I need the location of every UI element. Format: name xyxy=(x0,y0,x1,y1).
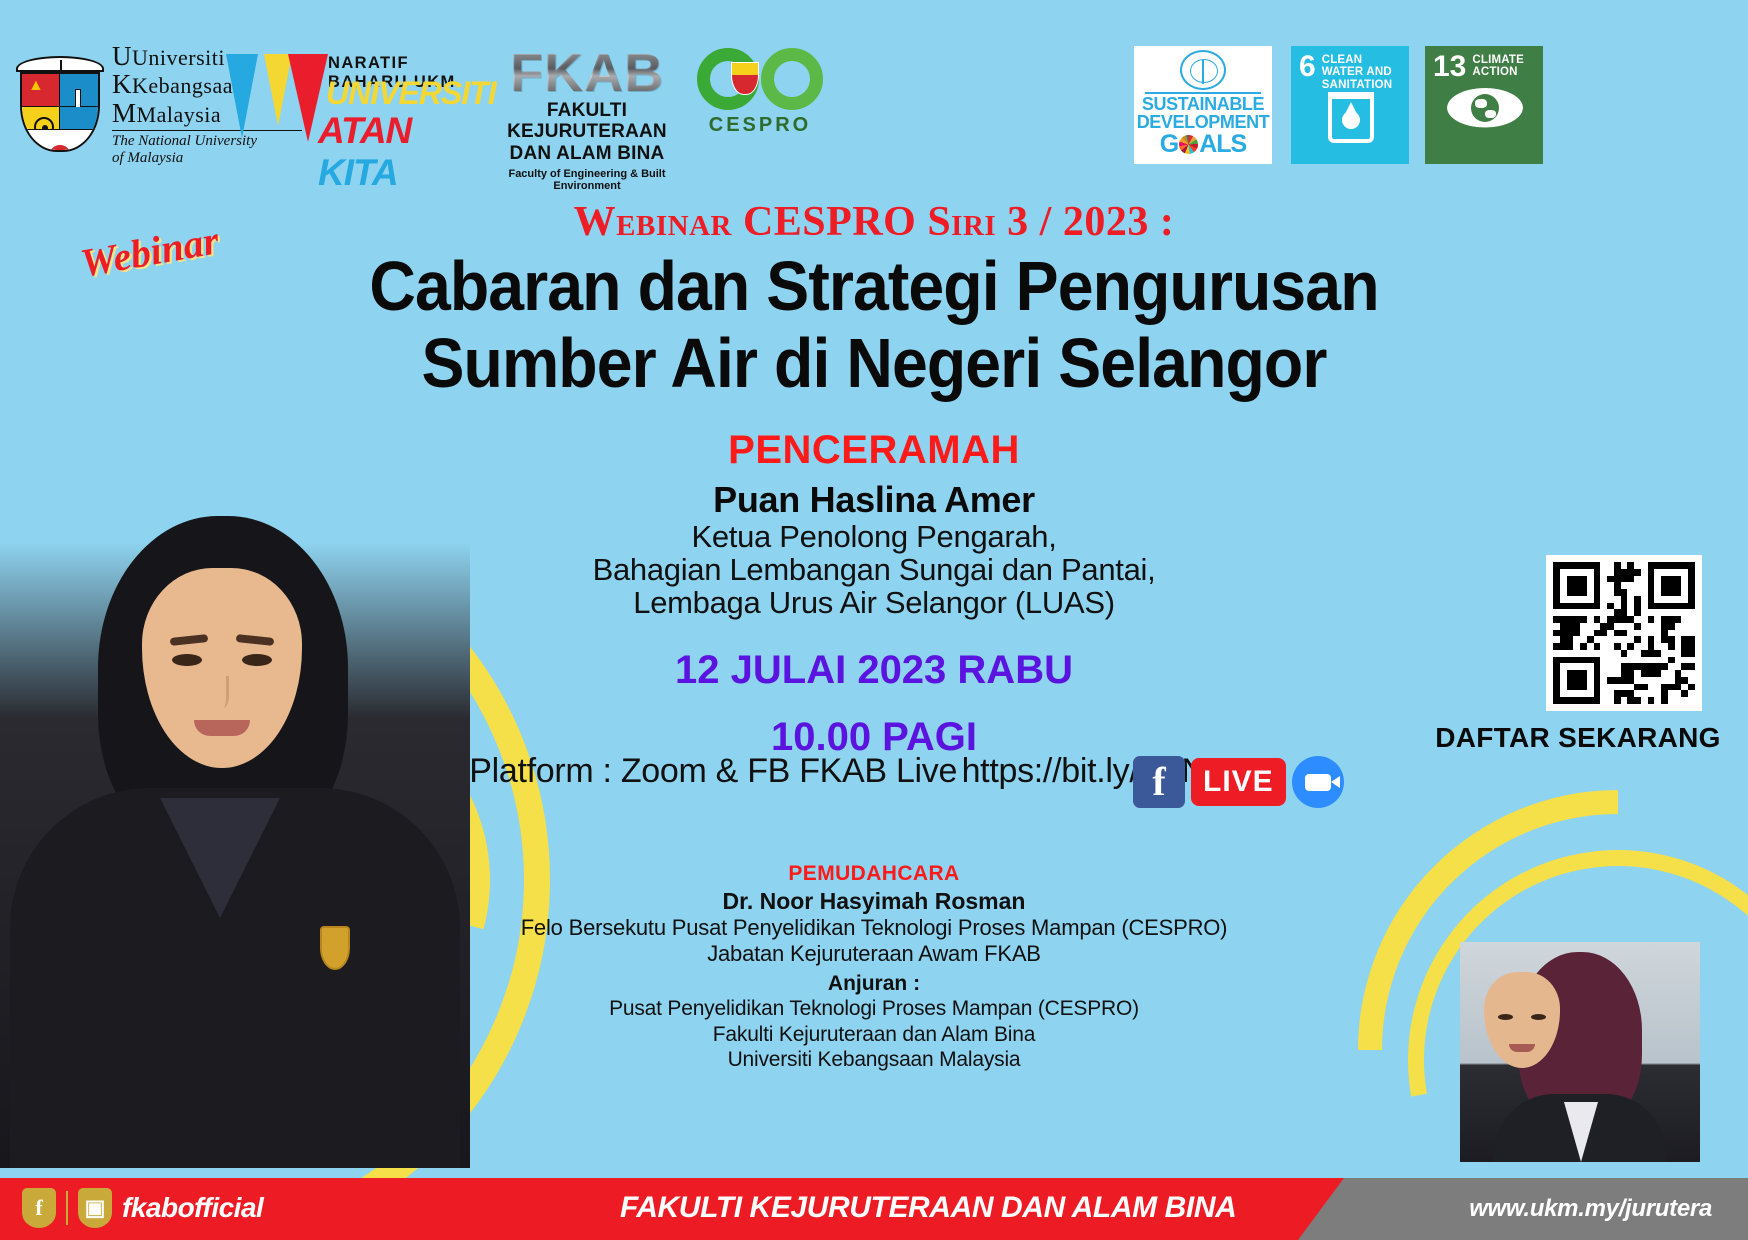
webinar-kicker: Webinar CESPRO Siri 3 / 2023 : xyxy=(0,198,1748,246)
sdg-goal-13-label: CLIMATE ACTION xyxy=(1472,54,1537,79)
cespro-logo: CESPRO xyxy=(690,44,830,137)
naratif-line1: UNIVERSITI xyxy=(326,75,496,112)
sdg-goal-6-label: CLEAN WATER AND SANITATION xyxy=(1322,54,1403,91)
sdg-line3a: G xyxy=(1160,132,1178,158)
logo-bar: ▲ UUniversiti KKebangsaan MMalaysia The … xyxy=(0,0,1748,190)
ukm-sub2: of Malaysia xyxy=(112,150,302,167)
webinar-poster: ▲ UUniversiti KKebangsaan MMalaysia The … xyxy=(0,0,1748,1240)
footer-social: f ▣ fkabofficial xyxy=(22,1188,263,1228)
naratif-line2a: ATAN xyxy=(318,110,411,151)
speaker-role-line1: Ketua Penolong Pengarah, xyxy=(0,521,1748,554)
webinar-title-line1: Cabaran dan Strategi Pengurusan xyxy=(70,250,1678,323)
naratif-line2b: KITA xyxy=(318,152,398,193)
facilitator-line2: Jabatan Kejuruteraan Awam FKAB xyxy=(0,941,1748,967)
organiser-line3: Universiti Kebangsaan Malaysia xyxy=(0,1047,1748,1073)
event-date: 12 JULAI 2023 RABU xyxy=(0,648,1748,693)
footer-bar: f ▣ fkabofficial FAKULTI KEJURUTERAAN DA… xyxy=(0,1178,1748,1240)
platform-icons: f LIVE xyxy=(1133,756,1344,808)
ukm-line3: Malaysia xyxy=(137,102,222,127)
facilitator-heading: PEMUDAHCARA xyxy=(0,862,1748,886)
zoom-icon[interactable] xyxy=(1292,756,1344,808)
ukm-line1: Universiti xyxy=(132,45,225,70)
water-glass-icon xyxy=(1299,99,1403,143)
un-emblem-icon xyxy=(1180,50,1226,90)
sdg-line3b: ALS xyxy=(1199,132,1246,158)
title-block: Webinar CESPRO Siri 3 / 2023 : Cabaran d… xyxy=(0,198,1748,400)
sdg-logo: SUSTAINABLE DEVELOPMENT G ALS xyxy=(1134,46,1272,164)
sdg-goal-6-number: 6 xyxy=(1299,54,1316,80)
sdg-goal-13-number: 13 xyxy=(1433,54,1466,80)
live-badge: LIVE xyxy=(1191,758,1286,806)
ukm-crest-icon: ▲ xyxy=(18,56,102,152)
naratif-baharu-logo: NARATIF BAHARU UKM UNIVERSITI ATAN KITA xyxy=(222,48,472,140)
speaker-role-line3: Lembaga Urus Air Selangor (LUAS) xyxy=(0,587,1748,620)
sdg-goal-6-tile: 6 CLEAN WATER AND SANITATION xyxy=(1291,46,1409,164)
speaker-role-line2: Bahagian Lembangan Sungai dan Pantai, xyxy=(0,554,1748,587)
sdg-colour-wheel-icon xyxy=(1179,135,1198,154)
instagram-icon[interactable]: ▣ xyxy=(78,1188,112,1228)
facilitator-block: PEMUDAHCARA Dr. Noor Hasyimah Rosman Fel… xyxy=(0,862,1748,967)
speaker-block: PENCERAMAH Puan Haslina Amer Ketua Penol… xyxy=(0,428,1748,620)
climate-eye-icon xyxy=(1433,88,1537,128)
footer-url[interactable]: www.ukm.my/jurutera xyxy=(1469,1195,1712,1223)
facebook-icon[interactable]: f xyxy=(22,1188,56,1228)
sdg-goal-13-tile: 13 CLIMATE ACTION xyxy=(1425,46,1543,164)
fkab-logo: FKAB FAKULTI KEJURUTERAAN DAN ALAM BINA … xyxy=(487,48,687,192)
speaker-name: Puan Haslina Amer xyxy=(0,479,1748,521)
social-handle: fkabofficial xyxy=(122,1192,263,1224)
organiser-line2: Fakulti Kejuruteraan dan Alam Bina xyxy=(0,1022,1748,1048)
facilitator-name: Dr. Noor Hasyimah Rosman xyxy=(0,888,1748,915)
facebook-icon[interactable]: f xyxy=(1133,756,1185,808)
organiser-block: Anjuran : Pusat Penyelidikan Teknologi P… xyxy=(0,972,1748,1073)
footer-faculty-name: FAKULTI KEJURUTERAAN DAN ALAM BINA xyxy=(620,1191,1236,1225)
fkab-line2: DAN ALAM BINA xyxy=(487,144,687,165)
sdg-line1: SUSTAINABLE xyxy=(1142,95,1264,113)
cespro-label: CESPRO xyxy=(690,114,830,137)
fkab-line1: FAKULTI KEJURUTERAAN xyxy=(487,101,687,142)
facilitator-line1: Felo Bersekutu Pusat Penyelidikan Teknol… xyxy=(0,915,1748,941)
platform-block: Platform : Zoom & FB FKAB Live https://b… xyxy=(0,752,1748,790)
organiser-line1: Pusat Penyelidikan Teknologi Proses Mamp… xyxy=(0,996,1748,1022)
cespro-infinity-icon xyxy=(697,44,823,116)
platform-text: Platform : Zoom & FB FKAB Live xyxy=(469,752,957,790)
event-datetime: 12 JULAI 2023 RABU 10.00 PAGI xyxy=(0,648,1748,760)
webinar-title-line2: Sumber Air di Negeri Selangor xyxy=(70,327,1678,400)
organiser-heading: Anjuran : xyxy=(0,972,1748,996)
fkab-acronym: FKAB xyxy=(487,48,687,99)
fkab-line3: Faculty of Engineering & Built Environme… xyxy=(487,168,687,192)
speaker-heading: PENCERAMAH xyxy=(0,428,1748,473)
sdg-line2: DEVELOPMENT xyxy=(1137,113,1270,131)
